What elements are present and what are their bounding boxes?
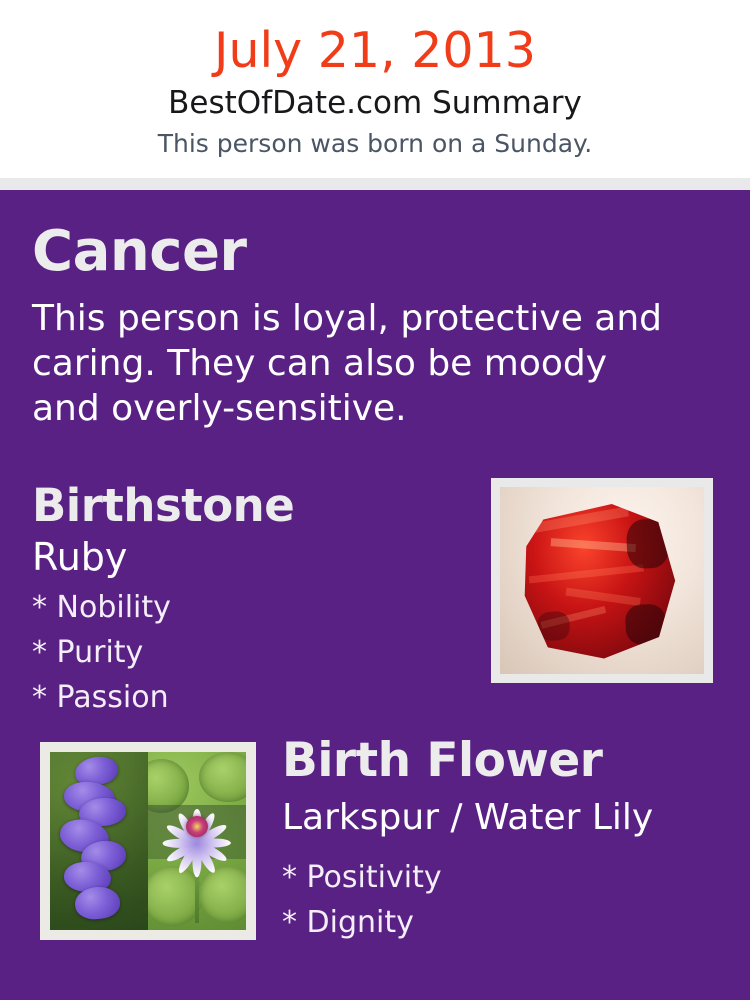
ruby-crystal-shape bbox=[513, 495, 683, 665]
page-title-date: July 21, 2013 bbox=[0, 22, 750, 80]
ruby-shadow bbox=[625, 604, 666, 645]
ruby-gemstone-photo bbox=[500, 487, 704, 674]
list-item: * Passion bbox=[32, 675, 452, 720]
birth-flower-name: Larkspur / Water Lily bbox=[282, 795, 653, 841]
birth-flower-image-frame bbox=[40, 742, 256, 940]
header-divider bbox=[0, 178, 750, 190]
zodiac-sign-heading: Cancer bbox=[32, 219, 247, 285]
birthstone-heading: Birthstone bbox=[32, 479, 294, 533]
birthstone-image-frame bbox=[491, 478, 713, 683]
ruby-facet bbox=[529, 565, 644, 584]
birth-flower-trait-list: * Positivity * Dignity bbox=[282, 855, 702, 945]
list-item: * Positivity bbox=[282, 855, 702, 900]
ruby-shadow bbox=[625, 518, 669, 569]
birthstone-name: Ruby bbox=[32, 534, 127, 580]
larkspur-photo-half bbox=[50, 752, 148, 930]
lily-pad bbox=[199, 866, 246, 923]
water-lily-photo-half bbox=[148, 752, 246, 930]
larkspur-and-water-lily-photo bbox=[50, 752, 246, 930]
ruby-facet bbox=[566, 588, 642, 607]
birthstone-trait-list: * Nobility * Purity * Passion bbox=[32, 585, 452, 720]
water-lily-center bbox=[186, 816, 208, 837]
larkspur-blossom bbox=[74, 886, 121, 921]
summary-card: July 21, 2013 BestOfDate.com Summary Thi… bbox=[0, 0, 750, 1000]
water-lily-bloom bbox=[161, 791, 234, 862]
list-item: * Purity bbox=[32, 630, 452, 675]
ruby-shadow bbox=[537, 611, 571, 642]
list-item: * Dignity bbox=[282, 900, 702, 945]
site-summary-label: BestOfDate.com Summary bbox=[0, 84, 750, 122]
zodiac-description: This person is loyal, protective and car… bbox=[32, 296, 672, 431]
list-item: * Nobility bbox=[32, 585, 452, 630]
ruby-facet bbox=[551, 538, 637, 552]
birth-day-note: This person was born on a Sunday. bbox=[0, 128, 750, 160]
ruby-facet bbox=[533, 507, 628, 533]
header: July 21, 2013 BestOfDate.com Summary Thi… bbox=[0, 0, 750, 178]
birth-flower-heading: Birth Flower bbox=[282, 732, 602, 790]
